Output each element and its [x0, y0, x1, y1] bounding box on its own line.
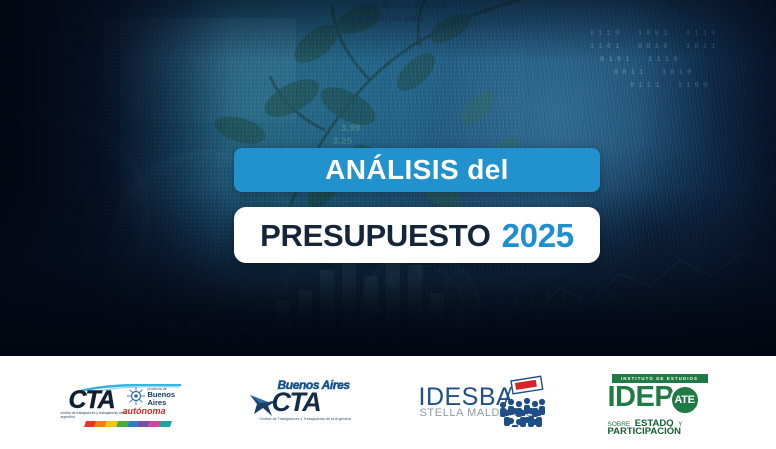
banknote-numeral-2: 3.25: [333, 136, 353, 146]
cta-autonoma-color-stripes: [85, 421, 171, 427]
title-line-analisis: ANÁLISIS del: [325, 156, 509, 184]
logo-cta-buenos-aires: Buenos Aires CTA Central de Trabajadores…: [244, 378, 362, 428]
cta-ba-wordmark: CTA: [272, 389, 321, 416]
cta-ba-tagline: Central de Trabajadores y Trabajadoras d…: [260, 417, 351, 421]
sun-of-may-icon: [127, 387, 145, 405]
title-year-2025: 2025: [502, 219, 574, 252]
logo-row: CTA provincia de Bu: [0, 374, 776, 432]
logo-idep: INSTITUTO DE ESTUDIOS IDEP ATE SOBRE EST…: [604, 374, 722, 432]
cta-autonoma-wordmark: CTA: [69, 388, 115, 413]
idesba-crowd-icon: [489, 375, 547, 427]
title-line-presupuesto: PRESUPUESTO: [260, 220, 490, 251]
cta-autonoma-modifier: autónoma: [123, 407, 166, 416]
footer-logo-strip: CTA provincia de Bu: [0, 356, 776, 449]
logo-idesba: IDESBA STELLA MALDONADO: [419, 375, 547, 431]
idep-subtitle-line-2: PARTICIPACIÓN: [608, 422, 682, 439]
banknote-numeral-1: 3.99: [341, 123, 361, 133]
idep-eyebrow-text: INSTITUTO DE ESTUDIOS: [621, 376, 698, 381]
idep-subtitle-participacion: PARTICIPACIÓN: [608, 426, 682, 437]
poster-root: a quien debo la ganancia y a quien me de…: [0, 0, 776, 449]
cta-autonoma-region: provincia de Buenos Aires: [148, 388, 176, 408]
idep-ate-badge-text: ATE: [674, 394, 694, 406]
title-plate-analisis: ANÁLISIS del: [234, 148, 600, 192]
idep-wordmark: IDEP: [608, 383, 674, 412]
logo-cta-autonoma: CTA provincia de Bu: [55, 375, 187, 431]
idep-ate-badge: ATE: [670, 385, 700, 415]
title-plate-presupuesto: PRESUPUESTO 2025: [234, 207, 600, 263]
